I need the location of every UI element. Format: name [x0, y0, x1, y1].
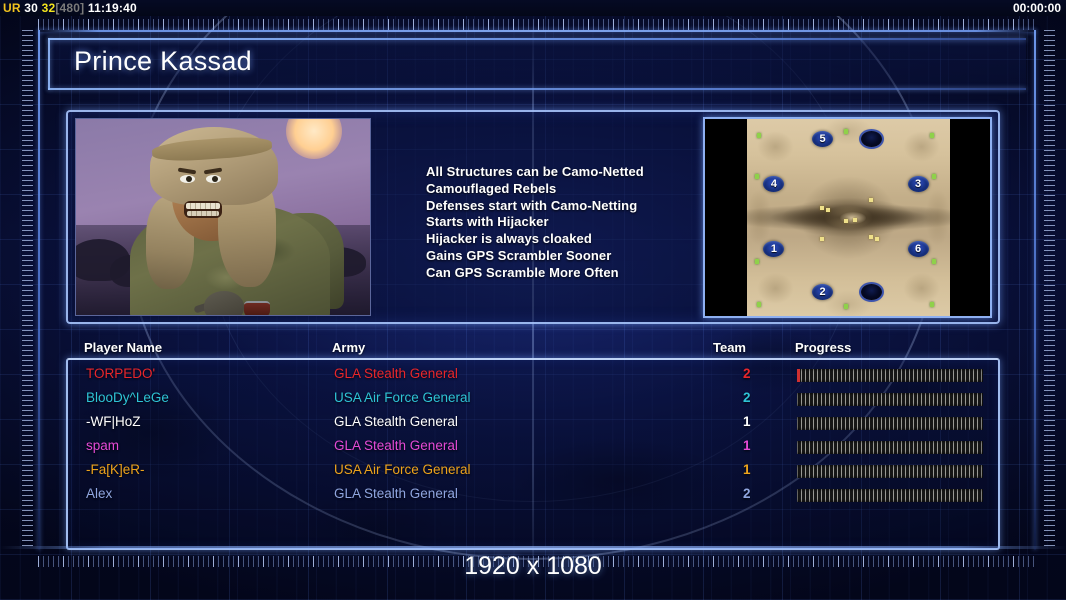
footer-divider [0, 546, 1066, 549]
ruler-right [1044, 30, 1055, 550]
player-name: spam [86, 438, 119, 453]
title-panel: Prince Kassad [48, 38, 1026, 90]
player-name: BlooDy^LeGe [86, 390, 169, 405]
frame-right-edge [1034, 30, 1036, 550]
loading-screen: UR 30 32[480] 11:19:40 00:00:00 Prince K… [0, 0, 1066, 600]
minimap-tech-building [875, 237, 879, 241]
player-team: 2 [743, 390, 751, 405]
ruler-left [22, 30, 33, 550]
player-progress-bar [797, 369, 983, 382]
player-army: GLA Stealth General [334, 438, 458, 453]
title-panel-top-rule [48, 38, 1026, 40]
column-header-army: Army [332, 340, 365, 355]
player-progress-bar [797, 417, 983, 430]
minimap-supply-dock [757, 133, 761, 138]
minimap-start-position-empty [861, 131, 882, 147]
ability-item: Camouflaged Rebels [426, 181, 726, 198]
player-team: 1 [743, 438, 751, 453]
minimap-supply-dock [755, 174, 759, 179]
minimap-tech-building [844, 219, 848, 223]
minimap-tech-building [869, 235, 873, 239]
minimap-tech-building [820, 237, 824, 241]
frame-top-edge [38, 30, 1036, 32]
player-table: TORPEDO'GLA Stealth General2BlooDy^LeGeU… [66, 358, 1000, 550]
player-rows-container: TORPEDO'GLA Stealth General2BlooDy^LeGeU… [68, 360, 998, 548]
ability-item: Starts with Hijacker [426, 214, 726, 231]
player-team: 1 [743, 414, 751, 429]
performance-readout: UR 30 32[480] 11:19:40 [3, 1, 137, 15]
minimap-tech-building [826, 208, 830, 212]
minimap-tech-building [820, 206, 824, 210]
ability-item: Gains GPS Scrambler Sooner [426, 248, 726, 265]
portrait-pupil-left [186, 176, 192, 182]
frame-left-edge [38, 30, 40, 550]
minimap-start-position-5: 5 [812, 131, 833, 147]
system-clock: 11:19:40 [88, 1, 137, 15]
title-panel-bottom-rule [48, 88, 1026, 90]
minimap: 543162 [703, 117, 992, 318]
ability-item: Defenses start with Camo-Netting [426, 198, 726, 215]
table-row[interactable]: TORPEDO'GLA Stealth General2 [68, 366, 998, 390]
player-progress-bar [797, 489, 983, 502]
page-title: Prince Kassad [74, 46, 252, 77]
status-bar: UR 30 32[480] 11:19:40 00:00:00 [0, 0, 1066, 16]
minimap-tech-building [869, 198, 873, 202]
player-army: GLA Stealth General [334, 414, 458, 429]
table-row[interactable]: -Fa[K]eR-USA Air Force General1 [68, 462, 998, 486]
player-name: TORPEDO' [86, 366, 155, 381]
player-team: 2 [743, 486, 751, 501]
table-row[interactable]: BlooDy^LeGeUSA Air Force General2 [68, 390, 998, 414]
player-name: Alex [86, 486, 112, 501]
secondary-value: 32 [42, 1, 56, 15]
portrait-teapot [204, 291, 244, 316]
portrait-teacup [244, 301, 270, 316]
title-panel-left-rule [48, 38, 50, 90]
general-info-panel: All Structures can be Camo-Netted Camouf… [66, 110, 1000, 324]
portrait-mouth [184, 201, 222, 218]
minimap-supply-dock [930, 302, 934, 307]
minimap-supply-dock [844, 304, 848, 309]
minimap-tech-building [853, 218, 857, 222]
portrait-teeth-lower [187, 211, 219, 216]
column-header-progress: Progress [795, 340, 851, 355]
elapsed-timer: 00:00:00 [1013, 1, 1061, 15]
ability-item: Hijacker is always cloaked [426, 231, 726, 248]
minimap-start-position-3: 3 [908, 176, 929, 192]
player-progress-bar [797, 465, 983, 478]
general-portrait [75, 118, 371, 316]
player-team: 2 [743, 366, 751, 381]
player-name: -Fa[K]eR- [86, 462, 145, 477]
player-team: 1 [743, 462, 751, 477]
minimap-supply-dock [930, 133, 934, 138]
player-army: USA Air Force General [334, 462, 471, 477]
player-progress-bar [797, 441, 983, 454]
column-header-team: Team [713, 340, 746, 355]
player-table-header: Player Name Army Team Progress [66, 340, 1000, 358]
ability-item: Can GPS Scramble More Often [426, 265, 726, 282]
portrait-teeth-upper [186, 203, 220, 209]
minimap-supply-dock [757, 302, 761, 307]
minimap-supply-dock [755, 259, 759, 264]
minimap-supply-dock [844, 129, 848, 134]
player-army: GLA Stealth General [334, 486, 458, 501]
column-header-player-name: Player Name [84, 340, 162, 355]
ability-list: All Structures can be Camo-Netted Camouf… [426, 164, 726, 282]
bracket-value: [480] [55, 1, 84, 15]
player-army: GLA Stealth General [334, 366, 458, 381]
ability-item: All Structures can be Camo-Netted [426, 164, 726, 181]
minimap-supply-dock [932, 174, 936, 179]
table-row[interactable]: -WF|HoZGLA Stealth General1 [68, 414, 998, 438]
minimap-start-position-6: 6 [908, 241, 929, 257]
player-army: USA Air Force General [334, 390, 471, 405]
minimap-terrain: 543162 [747, 119, 950, 316]
table-row[interactable]: spamGLA Stealth General1 [68, 438, 998, 462]
portrait-pupil-right [212, 176, 218, 182]
ur-label: UR [3, 1, 21, 15]
resolution-label: 1920 x 1080 [0, 552, 1066, 581]
fps-value: 30 [24, 1, 38, 15]
table-row[interactable]: AlexGLA Stealth General2 [68, 486, 998, 510]
ruler-top [38, 19, 1036, 30]
minimap-supply-dock [932, 259, 936, 264]
player-name: -WF|HoZ [86, 414, 141, 429]
player-progress-bar [797, 393, 983, 406]
